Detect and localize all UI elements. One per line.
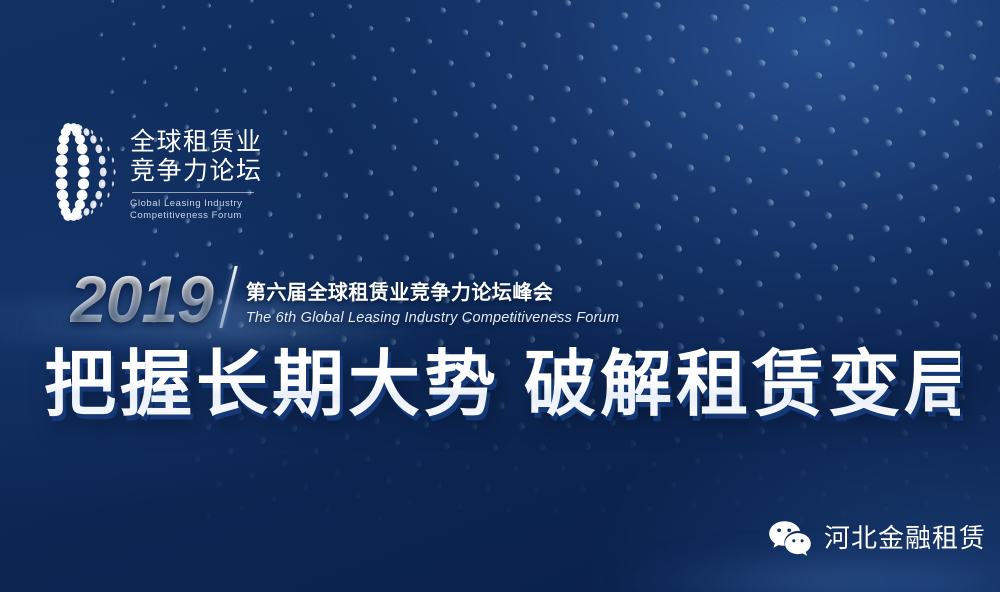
headline-slogan: 把握长期大势 破解租赁变局 (44, 342, 960, 428)
forum-logo-subtitle-line2: Competitiveness Forum (130, 210, 263, 223)
event-title-en: The 6th Global Leasing Industry Competit… (246, 308, 619, 328)
event-poster: 全球租赁业 竞争力论坛 Global Leasing Industry Comp… (0, 0, 1000, 592)
wechat-account: 河北金融租赁 (768, 520, 986, 556)
event-title-cn: 第六届全球租赁业竞争力论坛峰会 (246, 281, 619, 306)
forum-logo-divider (132, 192, 254, 193)
forum-logo-title-line2: 竞争力论坛 (130, 157, 263, 186)
forum-logo-subtitle-line1: Global Leasing Industry (130, 198, 263, 211)
event-banner: 2019 第六届全球租赁业竞争力论坛峰会 The 6th Global Leas… (70, 266, 619, 332)
year-divider-slash (219, 266, 237, 328)
forum-logo: 全球租赁业 竞争力论坛 Global Leasing Industry Comp… (48, 110, 263, 234)
dotted-sphere-logo-icon (48, 110, 120, 234)
event-year: 2019 (70, 266, 217, 332)
forum-logo-text: 全球租赁业 竞争力论坛 Global Leasing Industry Comp… (130, 122, 263, 223)
event-title-block: 第六届全球租赁业竞争力论坛峰会 The 6th Global Leasing I… (246, 281, 619, 332)
wechat-icon (768, 520, 812, 556)
wechat-account-name: 河北金融租赁 (824, 523, 986, 553)
forum-logo-title-line1: 全球租赁业 (130, 128, 263, 157)
